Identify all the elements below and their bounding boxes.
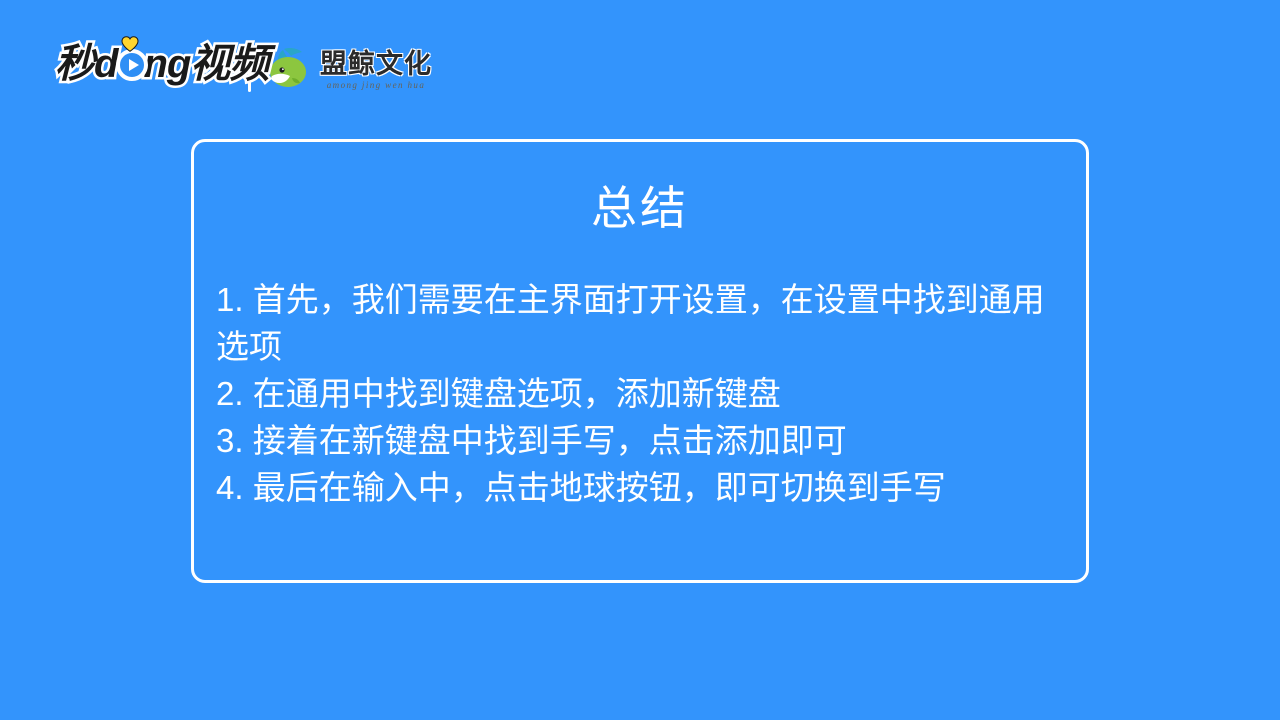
list-item: 3. 接着在新键盘中找到手写，点击添加即可 [216,417,1070,464]
branding-header: 秒d ng视频 盟鲸文化 among jing wen hua [0,0,1280,118]
play-triangle-shape [129,59,139,71]
list-item: 2. 在通用中找到键盘选项，添加新键盘 [216,370,1070,417]
page-title: 总结 [194,182,1086,234]
summary-steps-list: 1. 首先，我们需要在主界面打开设置，在设置中找到通用选项 2. 在通用中找到键… [216,276,1070,511]
miaodong-video-logo: 秒d ng视频 [55,38,268,90]
play-icon [116,49,148,81]
miaodong-logo-text-left: 秒d [55,38,117,90]
summary-card: 总结 1. 首先，我们需要在主界面打开设置，在设置中找到通用选项 2. 在通用中… [191,139,1089,583]
whale-icon [264,46,314,92]
list-item: 1. 首先，我们需要在主界面打开设置，在设置中找到通用选项 [216,276,1070,370]
heart-icon [121,36,139,52]
mengjing-text-block: 盟鲸文化 among jing wen hua [320,49,432,90]
mengjing-title: 盟鲸文化 [320,49,432,79]
list-item: 4. 最后在输入中，点击地球按钮，即可切换到手写 [216,464,1070,511]
mengjing-subtitle: among jing wen hua [320,80,432,90]
mengjing-culture-logo: 盟鲸文化 among jing wen hua [264,44,432,94]
miaodong-logo-text-right: ng视频 [143,38,268,90]
